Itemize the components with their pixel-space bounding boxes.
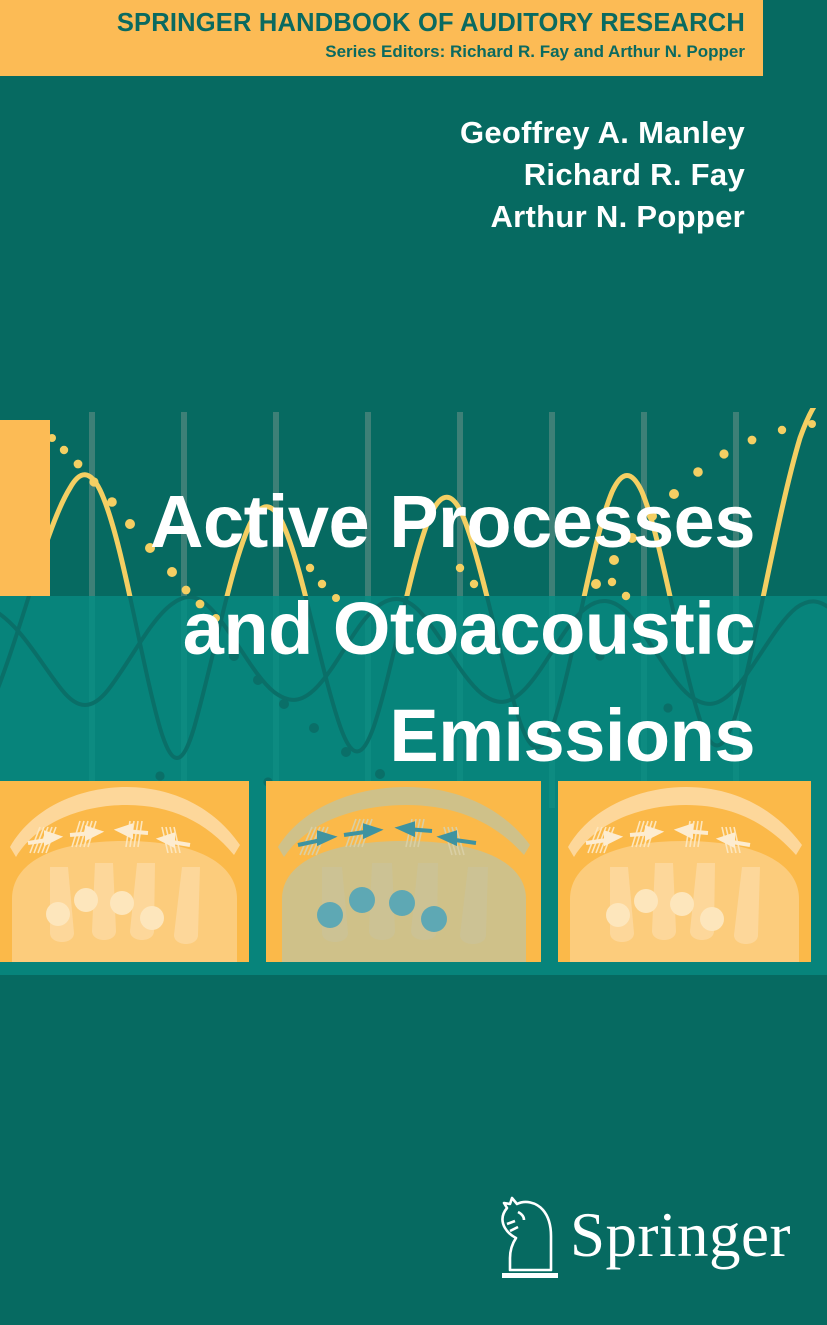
cochlea-panel-2 [266, 781, 541, 962]
author-name: Arthur N. Popper [460, 196, 745, 238]
series-editors: Series Editors: Richard R. Fay and Arthu… [0, 40, 745, 64]
title-line: Active Processes [15, 468, 755, 575]
book-title: Active Processes and Otoacoustic Emissio… [15, 468, 755, 789]
title-line: and Otoacoustic [15, 575, 755, 682]
author-list: Geoffrey A. Manley Richard R. Fay Arthur… [460, 112, 745, 238]
publisher-name: Springer [570, 1200, 791, 1270]
series-banner: SPRINGER HANDBOOK OF AUDITORY RESEARCH S… [0, 0, 763, 76]
publisher-logo: Springer [488, 1192, 758, 1278]
springer-knight-icon [488, 1192, 568, 1278]
author-name: Geoffrey A. Manley [460, 112, 745, 154]
cochlea-panel-3 [558, 781, 811, 962]
author-name: Richard R. Fay [460, 154, 745, 196]
book-cover: SPRINGER HANDBOOK OF AUDITORY RESEARCH S… [0, 0, 827, 1325]
cochlea-panel-1 [0, 781, 249, 962]
cochlea-illustration-strip [0, 781, 827, 962]
series-title: SPRINGER HANDBOOK OF AUDITORY RESEARCH [0, 6, 745, 40]
title-line: Emissions [15, 682, 755, 789]
